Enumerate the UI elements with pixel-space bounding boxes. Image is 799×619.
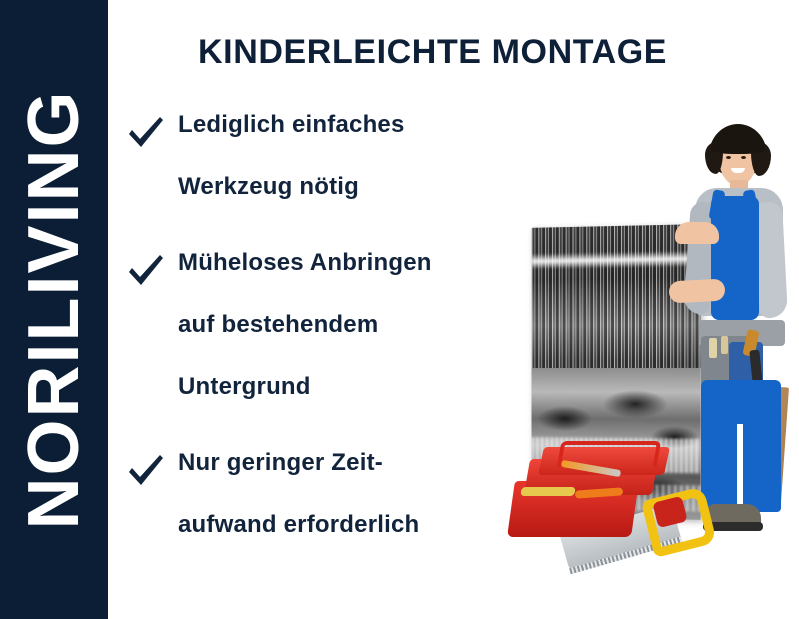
list-item-line: auf bestehendem — [178, 313, 506, 375]
list-item-line: Lediglich einfaches — [178, 113, 506, 175]
waterfall-crest — [532, 250, 701, 269]
toolbox-handle — [557, 441, 662, 467]
eye-right — [741, 156, 746, 159]
belt-tool-chisel — [709, 338, 717, 358]
list-item-text: Müheloses Anbringen auf bestehendem Unte… — [178, 251, 506, 437]
eye-left — [726, 156, 731, 159]
hand-on-panel-top — [675, 222, 719, 244]
promo-banner: NORILIVING KINDERLEICHTE MONTAGE Ledigli… — [0, 0, 799, 619]
list-item-line: Werkzeug nötig — [178, 175, 506, 237]
checkmark-icon — [126, 453, 166, 489]
belt-tool-file — [721, 336, 728, 354]
feature-list: Lediglich einfaches Werkzeug nötig Mühel… — [126, 113, 506, 589]
toolbox-group — [505, 443, 715, 573]
pant-leg-gap — [737, 424, 743, 512]
list-item: Lediglich einfaches Werkzeug nötig — [126, 113, 506, 237]
brand-bar: NORILIVING — [0, 0, 108, 619]
list-item: Nur geringer Zeit- aufwand erforderlich — [126, 451, 506, 575]
arm-holding-panel — [668, 279, 725, 304]
checkmark-icon — [126, 253, 166, 289]
list-item-line: Müheloses Anbringen — [178, 251, 506, 313]
waterfall-streaks — [532, 224, 701, 386]
brand-bar-inner: NORILIVING — [0, 0, 108, 619]
brand-name: NORILIVING — [18, 90, 90, 530]
list-item-text: Lediglich einfaches Werkzeug nötig — [178, 113, 506, 237]
list-item-line: Untergrund — [178, 375, 506, 437]
checkmark-icon — [126, 115, 166, 151]
product-photo — [495, 118, 799, 578]
sleeve-right — [754, 201, 788, 318]
page-title: KINDERLEICHTE MONTAGE — [198, 33, 667, 72]
list-item-text: Nur geringer Zeit- aufwand erforderlich — [178, 451, 506, 575]
toolbox-tool-yellow — [520, 487, 576, 496]
overall-bib — [711, 196, 759, 320]
list-item: Müheloses Anbringen auf bestehendem Unte… — [126, 251, 506, 437]
list-item-line: Nur geringer Zeit- — [178, 451, 506, 513]
list-item-line: aufwand erforderlich — [178, 513, 506, 575]
